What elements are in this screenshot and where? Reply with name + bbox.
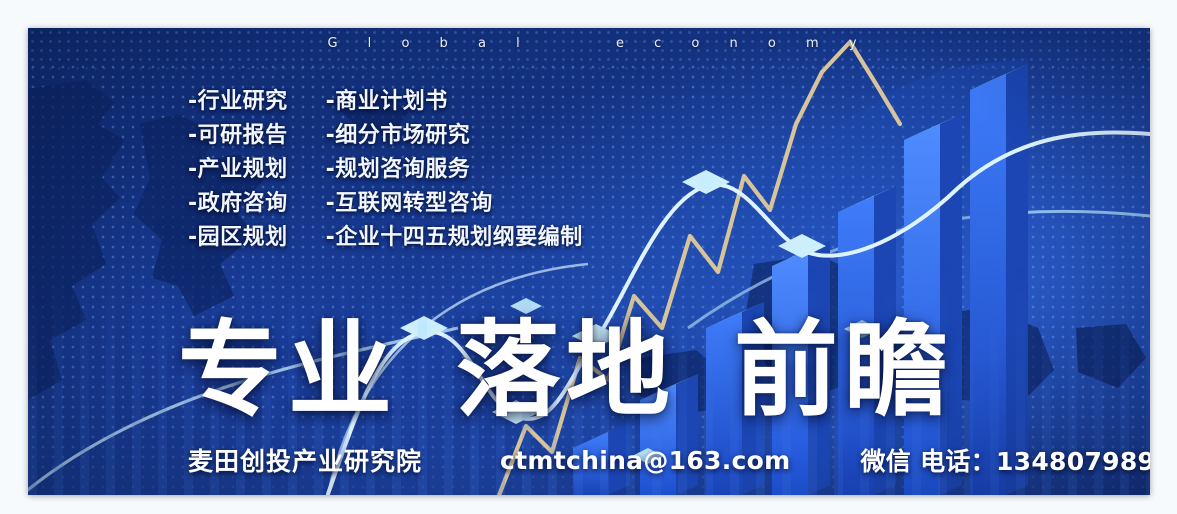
service-item: -行业研究 bbox=[188, 86, 288, 117]
kicker-letter: o bbox=[390, 28, 422, 60]
kicker-letter: o bbox=[680, 28, 712, 60]
kicker-letter: o bbox=[757, 28, 789, 60]
promo-banner: G l o b a l e c o n o m y -行业研究 -可研报告 -产… bbox=[28, 28, 1150, 495]
service-item: -规划咨询服务 bbox=[326, 154, 583, 185]
service-item: -产业规划 bbox=[188, 154, 288, 185]
kicker-global-economy: G l o b a l e c o n o m y bbox=[98, 28, 1088, 60]
headline-word: 专业 bbox=[178, 318, 398, 422]
service-column-right: -商业计划书 -细分市场研究 -规划咨询服务 -互联网转型咨询 -企业十四五规划… bbox=[326, 86, 583, 253]
kicker-letter: a bbox=[467, 28, 499, 60]
kicker-letter: c bbox=[643, 28, 674, 60]
service-item: -园区规划 bbox=[188, 222, 288, 253]
kicker-letter: l bbox=[357, 28, 385, 60]
contact-row: 麦田创投产业研究院 ctmtchina@163.com 微信 电话：134807… bbox=[188, 442, 1150, 478]
contact-email[interactable]: ctmtchina@163.com bbox=[500, 446, 790, 475]
service-list: -行业研究 -可研报告 -产业规划 -政府咨询 -园区规划 -商业计划书 -细分… bbox=[188, 86, 583, 253]
service-item: -细分市场研究 bbox=[326, 120, 583, 151]
headline: 专业 落地 前瞻 bbox=[178, 318, 954, 422]
contact-phone[interactable]: 微信 电话：13480798915 bbox=[860, 442, 1150, 478]
headline-word: 前瞻 bbox=[734, 318, 954, 422]
kicker-letter: l bbox=[505, 28, 533, 60]
service-item: -商业计划书 bbox=[326, 86, 583, 117]
kicker-letter: m bbox=[795, 28, 832, 60]
organization-name: 麦田创投产业研究院 bbox=[188, 442, 422, 478]
service-item: -政府咨询 bbox=[188, 188, 288, 219]
service-item: -企业十四五规划纲要编制 bbox=[326, 222, 583, 253]
kicker-letter: n bbox=[719, 28, 751, 60]
kicker-letter: G bbox=[316, 28, 350, 60]
service-item: -可研报告 bbox=[188, 120, 288, 151]
kicker-letter: e bbox=[605, 28, 637, 60]
headline-word: 落地 bbox=[456, 318, 676, 422]
service-item: -互联网转型咨询 bbox=[326, 188, 583, 219]
kicker-letter: y bbox=[838, 28, 870, 60]
kicker-letter: b bbox=[429, 28, 461, 60]
service-column-left: -行业研究 -可研报告 -产业规划 -政府咨询 -园区规划 bbox=[188, 86, 288, 253]
